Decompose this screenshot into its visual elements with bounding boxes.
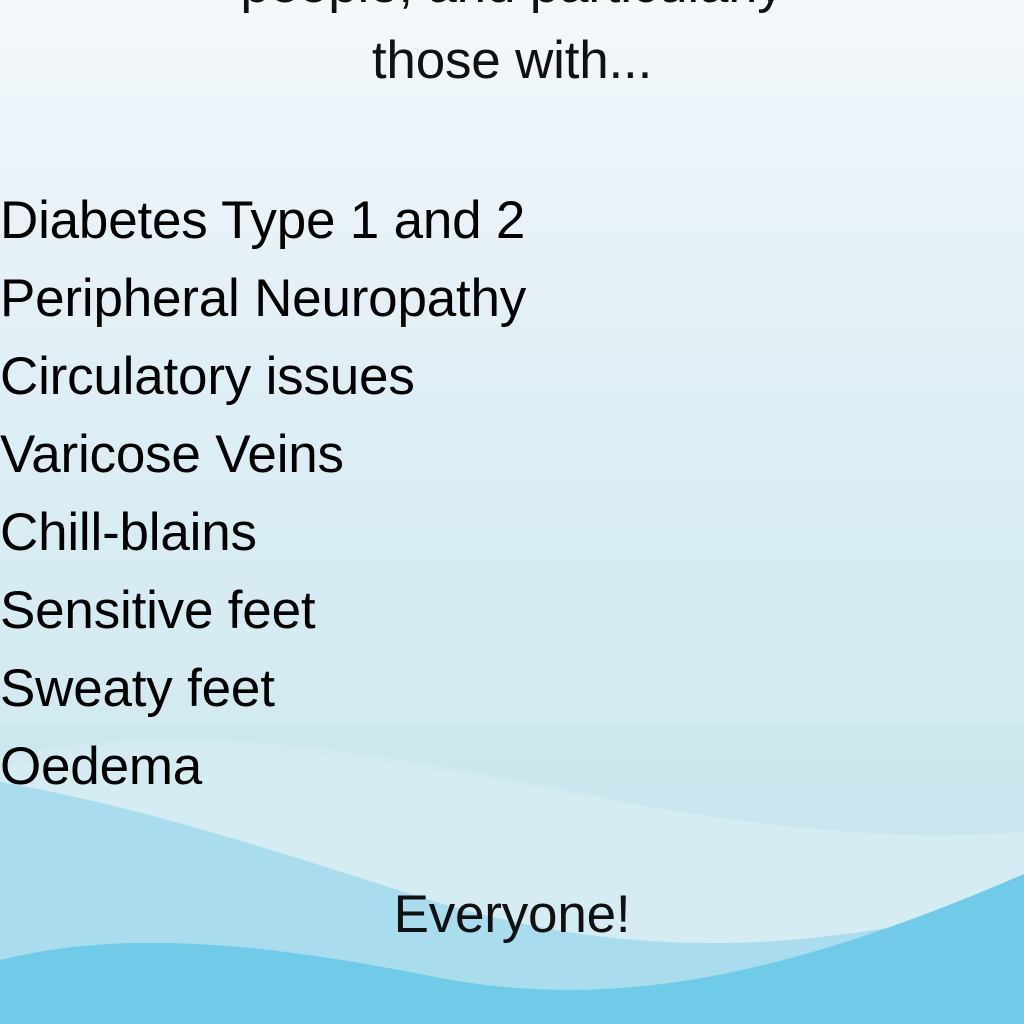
condition-item: Peripheral Neuropathy <box>0 260 1024 338</box>
condition-item: Chill-blains <box>0 494 1024 572</box>
condition-item: Varicose Veins <box>0 416 1024 494</box>
closing-statement: Everyone! <box>0 885 1024 945</box>
condition-item: Sensitive feet <box>0 572 1024 650</box>
condition-item: Diabetes Type 1 and 2 <box>0 182 1024 260</box>
heading-clipped-line: people, and particularly <box>0 0 1024 23</box>
condition-item: Circulatory issues <box>0 338 1024 416</box>
closing-line: Everyone! <box>0 885 1024 945</box>
condition-list: Diabetes Type 1 and 2 Peripheral Neuropa… <box>0 182 1024 806</box>
condition-item: Sweaty feet <box>0 650 1024 728</box>
heading-visible-line: those with... <box>0 23 1024 99</box>
heading-tail: people, and particularly those with... <box>0 0 1024 99</box>
condition-item: Oedema <box>0 728 1024 806</box>
slide-canvas: people, and particularly those with... D… <box>0 0 1024 1024</box>
